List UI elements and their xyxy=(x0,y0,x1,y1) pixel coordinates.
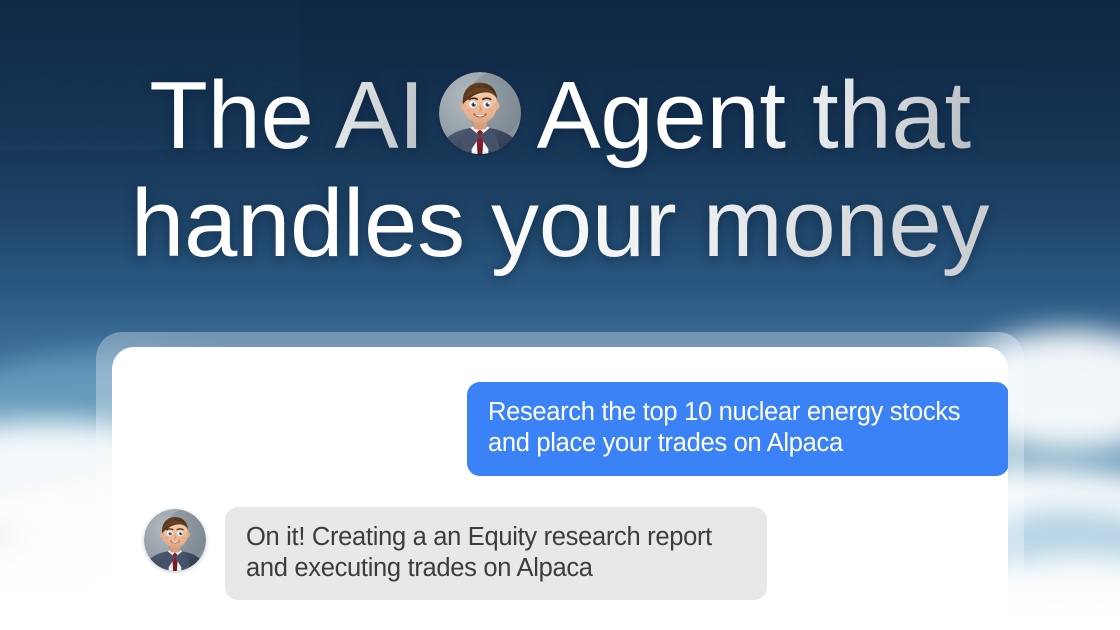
chat-card: Research the top 10 nuclear energy stock… xyxy=(112,347,1008,630)
headline-text-before-avatar: The AI xyxy=(149,62,424,170)
ai-agent-avatar xyxy=(439,72,521,154)
user-message-text: Research the top 10 nuclear energy stock… xyxy=(488,397,988,459)
chat-message-row-user: Research the top 10 nuclear energy stock… xyxy=(112,382,1008,476)
user-message-bubble[interactable]: Research the top 10 nuclear energy stock… xyxy=(467,382,1008,476)
agent-message-text: On it! Creating a an Equity research rep… xyxy=(246,522,746,584)
chat-message-row-agent: On it! Creating a an Equity research rep… xyxy=(112,507,1008,601)
headline-text-after-avatar: Agent that xyxy=(537,62,971,170)
ai-agent-avatar-small xyxy=(144,509,206,571)
agent-message-bubble[interactable]: On it! Creating a an Equity research rep… xyxy=(225,507,767,601)
headline-line-2: handles your money xyxy=(0,170,1120,278)
hero-headline: The AI xyxy=(0,62,1120,277)
headline-line-1: The AI xyxy=(0,62,1120,170)
hero-section: The AI xyxy=(0,0,1120,630)
